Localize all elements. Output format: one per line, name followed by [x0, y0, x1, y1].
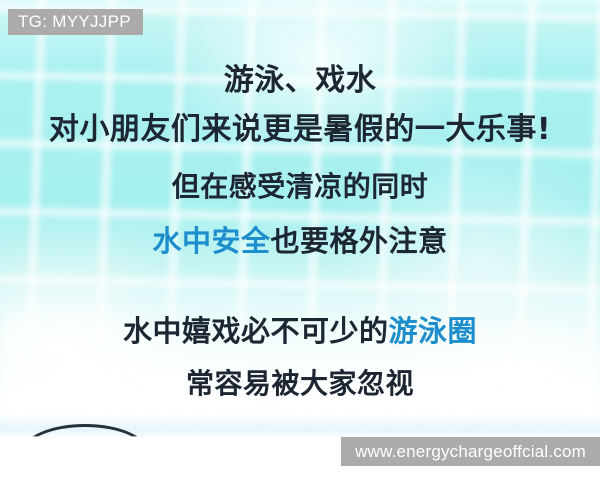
- watermark-website: www.energychargeoffcial.com: [341, 437, 600, 466]
- poster-canvas: 游泳、戏水 对小朋友们来说更是暑假的一大乐事! 但在感受清凉的同时 水中安全也要…: [0, 0, 600, 480]
- headline-line-2: 对小朋友们来说更是暑假的一大乐事!: [0, 104, 600, 148]
- highlight-swim-ring: 游泳圈: [389, 314, 478, 348]
- headline-line-6: 常容易被大家忽视: [0, 362, 600, 402]
- headline-line-4: 水中安全也要格外注意: [0, 218, 600, 260]
- headline-line-3: 但在感受清凉的同时: [0, 165, 600, 205]
- poster-text-block: 游泳、戏水 对小朋友们来说更是暑假的一大乐事! 但在感受清凉的同时 水中安全也要…: [0, 0, 600, 480]
- highlight-water-safety: 水中安全: [152, 224, 270, 258]
- headline-line-4-rest: 也要格外注意: [271, 224, 448, 258]
- headline-line-5-plain: 水中嬉戏必不可少的: [123, 314, 389, 348]
- watermark-telegram: TG: MYYJJPP: [8, 9, 143, 35]
- headline-line-5: 水中嬉戏必不可少的游泳圈: [0, 308, 600, 350]
- headline-line-1: 游泳、戏水: [0, 55, 600, 99]
